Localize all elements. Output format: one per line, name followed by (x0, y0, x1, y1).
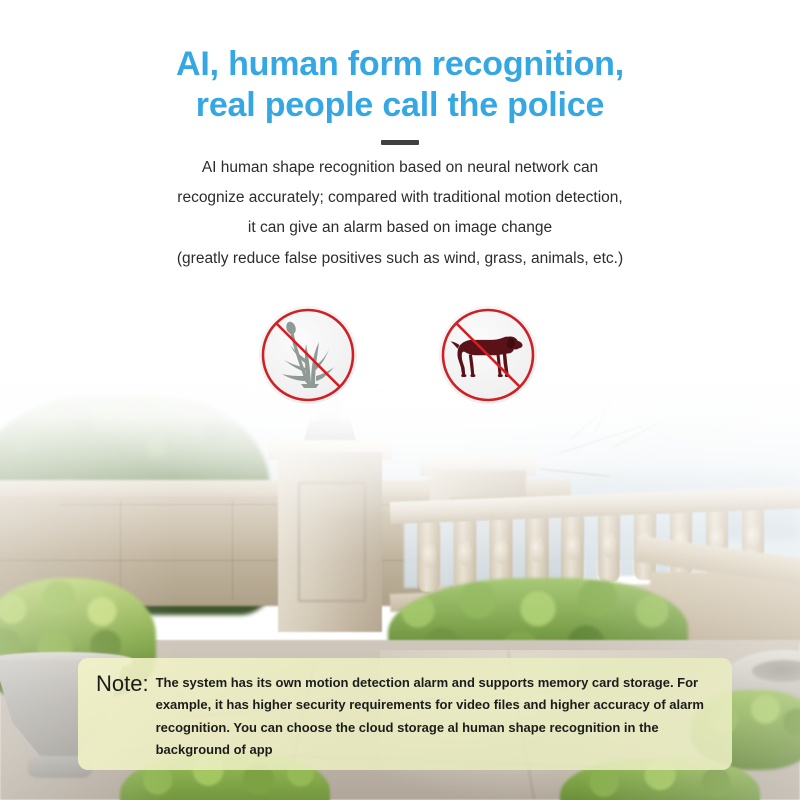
description-line-4: (greatly reduce false positives such as … (100, 244, 700, 274)
no-grass-icon (259, 306, 357, 404)
headline-line-2: real people call the police (0, 85, 800, 126)
false-positive-icons (0, 304, 800, 408)
dog-icon (451, 337, 523, 378)
baluster (526, 510, 548, 586)
product-feature-slide: AI, human form recognition, real people … (0, 0, 800, 800)
wall-seam (232, 500, 233, 600)
baluster-gap (476, 512, 490, 584)
baluster (562, 508, 584, 584)
baluster (598, 506, 620, 582)
lamp-base (300, 420, 360, 442)
description-line-2: recognize accurately; compared with trad… (100, 183, 700, 213)
title-divider (381, 140, 419, 145)
baluster-gap (512, 510, 526, 582)
description-line-3: it can give an alarm based on image chan… (100, 213, 700, 243)
description-text: AI human shape recognition based on neur… (100, 153, 700, 274)
wall-seam (120, 500, 121, 600)
baluster-gap (584, 506, 598, 578)
headline-line-1: AI, human form recognition, (0, 44, 800, 85)
description-line-1: AI human shape recognition based on neur… (100, 153, 700, 183)
baluster (490, 512, 512, 588)
baluster-gap (404, 516, 418, 588)
baluster (418, 516, 440, 592)
no-dog-svg (439, 306, 537, 404)
note-body: The system has its own motion detection … (156, 672, 714, 761)
note-label: Note: (96, 672, 149, 695)
pillar-panel (298, 482, 366, 602)
no-grass-svg (259, 306, 357, 404)
baluster-gap (440, 514, 454, 586)
no-dog-icon (439, 306, 537, 404)
baluster (454, 514, 476, 590)
page-title: AI, human form recognition, real people … (0, 44, 800, 127)
baluster-gap (548, 508, 562, 580)
note-box: Note: The system has its own motion dete… (78, 658, 732, 770)
prohibition-slash (456, 323, 520, 387)
